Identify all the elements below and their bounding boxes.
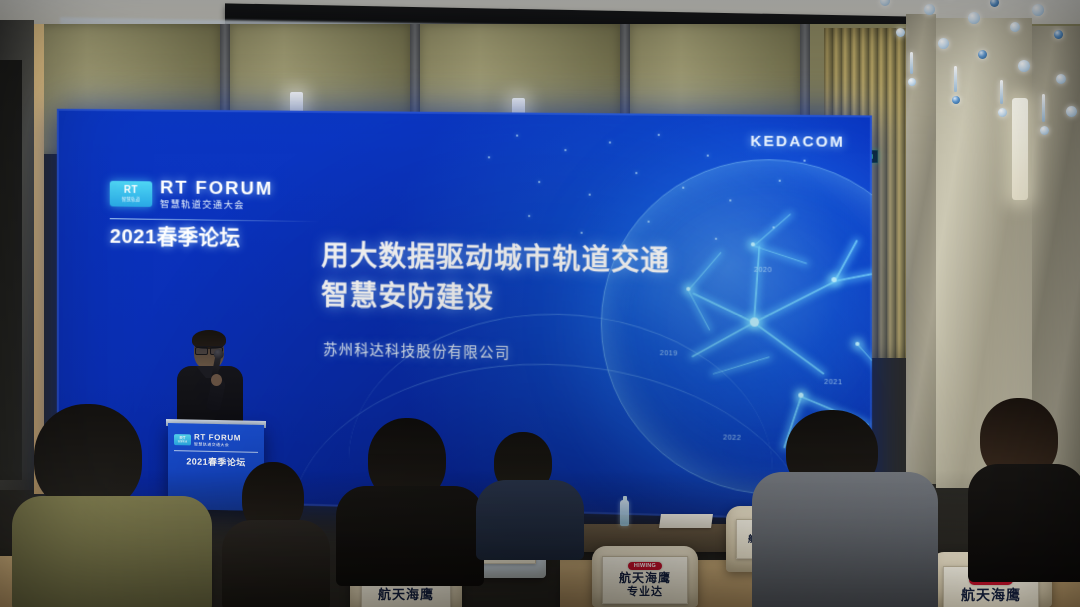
event-title-cn: 智慧轨道交通大会 [160,200,273,211]
slide-title: 用大数据驱动城市轨道交通 智慧安防建设 [321,236,670,321]
event-title-en: RT FORUM [160,179,273,199]
slide-title-line1: 用大数据驱动城市轨道交通 [321,236,670,281]
audience-person-suit [476,432,586,552]
event-logo-block: RT 智慧轨道 RT FORUM 智慧轨道交通大会 2021春季论坛 [110,178,319,249]
audience-person-ponytail [222,462,332,607]
chair-sign-line2: 专业达 [627,587,663,598]
rt-mark-en: RT [124,185,138,195]
chair-front-midright: HIWING 航天海鹰 专业达 [592,546,698,607]
event-year-line: 2021春季论坛 [110,226,319,250]
audience-person-dark-bun [336,418,486,578]
slide-company-name: 苏州科达科技股份有限公司 [323,338,510,363]
person-body [752,472,938,607]
crystal-chandelier [850,0,1080,172]
person-body [968,464,1080,582]
water-bottle [620,500,629,526]
event-logo-divider [110,218,319,222]
globe-year-label-1: 2021 [824,379,842,387]
chair-sign-line1: 航天海鹰 [961,588,1021,602]
chair-sign-line1: 航天海鹰 [378,588,434,601]
chair-sign-line1: 航天海鹰 [619,572,671,584]
person-body [222,520,330,607]
audience-person-olive [12,404,222,607]
document-on-table-a [659,514,713,528]
speaker-hand [211,374,222,386]
conference-photo-scene: 2020 2021 2019 2022 [0,0,1080,607]
slide-title-line2: 智慧安防建设 [321,276,670,322]
event-logo-titles: RT FORUM 智慧轨道交通大会 [160,179,273,212]
chair-sign: HIWING 航天海鹰 专业达 [602,556,688,604]
rt-mark-icon: RT 智慧轨道 [110,181,152,207]
person-body [12,496,212,607]
hiwing-logo: HIWING [628,562,662,570]
rt-mark-cn: 智慧轨道 [122,197,141,202]
event-logo-row: RT 智慧轨道 RT FORUM 智慧轨道交通大会 [110,178,319,212]
kedacom-brand-text: KEDACOM [750,133,845,151]
audience-person-gray-shirt [752,410,942,607]
person-body [336,486,484,586]
person-body [476,480,584,560]
audience-person-far-right [968,398,1080,578]
